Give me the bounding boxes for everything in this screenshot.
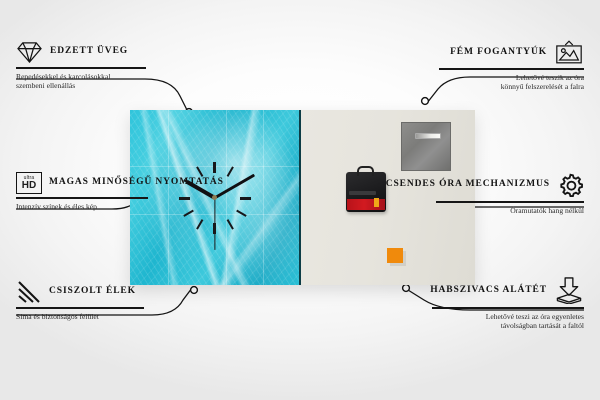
feature-polished-edges: CSISZOLT ÉLEK Sima és biztonságos felüle… [16,280,144,321]
foam-spacer-pad [387,248,403,263]
polished-edges-icon [16,280,42,304]
feature-desc: Lehetővé teszi az óra egyenletes távolsá… [432,312,584,331]
mechanism-detail [349,191,376,195]
product-photo [130,110,475,285]
feature-metal-handles: FÉM FOGANTYÚK Lehetővé teszik az óra kön… [439,40,584,92]
ultra-hd-icon: ultra HD [16,172,42,194]
feature-desc: Óramutatók hang nélkül [436,206,584,216]
feature-desc: Lehetővé teszik az óra könnyű felszerelé… [439,73,584,92]
ultra-hd-icon-bottom: HD [22,181,36,191]
diamond-icon [16,40,43,64]
feature-rule [16,307,144,309]
gear-icon [557,172,584,198]
clock-second-hand [214,198,215,250]
mechanism-label [347,199,385,210]
feature-foam-backing: HABSZIVACS ALÁTÉT Lehetővé teszi az óra … [432,277,584,331]
foam-pad-arrow-icon [554,277,584,304]
connector-dot-polished-edges [191,287,198,294]
connector-dot-metal-handles [422,98,429,105]
feature-high-quality-print: ultra HD MAGAS MINŐSÉGŰ NYOMTATÁS Intenz… [16,172,148,211]
feature-rule [439,68,584,70]
clock-front-view [130,110,301,285]
feature-title: CSENDES ÓRA MECHANIZMUS [386,179,550,191]
feature-title: CSISZOLT ÉLEK [49,286,136,298]
connector-dot-foam-backing [403,285,410,292]
infographic-stage: EDZETT ÜVEG Repedésekkel és karcolásokka… [0,0,600,400]
feature-title: MAGAS MINŐSÉGŰ NYOMTATÁS [49,177,224,189]
feature-title: FÉM FOGANTYÚK [450,47,547,59]
feature-rule [16,197,148,199]
clock-center-hub [212,195,217,200]
feature-desc: Intenzív színek és éles kép [16,202,148,212]
hanger-slot [415,133,441,139]
feature-rule [16,67,146,69]
metal-hanger-plate [401,122,451,171]
clock-mechanism [346,172,386,212]
feature-desc: Repedésekkel és karcolásokkal szembeni e… [16,72,146,91]
picture-hanger-icon [554,40,584,65]
feature-rule [436,201,584,203]
mechanism-hook [357,166,374,176]
feature-title: HABSZIVACS ALÁTÉT [430,285,547,297]
feature-tempered-glass: EDZETT ÜVEG Repedésekkel és karcolásokka… [16,40,146,91]
feature-rule [432,307,584,309]
feature-title: EDZETT ÜVEG [50,46,128,58]
feature-desc: Sima és biztonságos felület [16,312,144,322]
feature-silent-mechanism: CSENDES ÓRA MECHANIZMUS Óramutatók hang … [436,172,584,215]
